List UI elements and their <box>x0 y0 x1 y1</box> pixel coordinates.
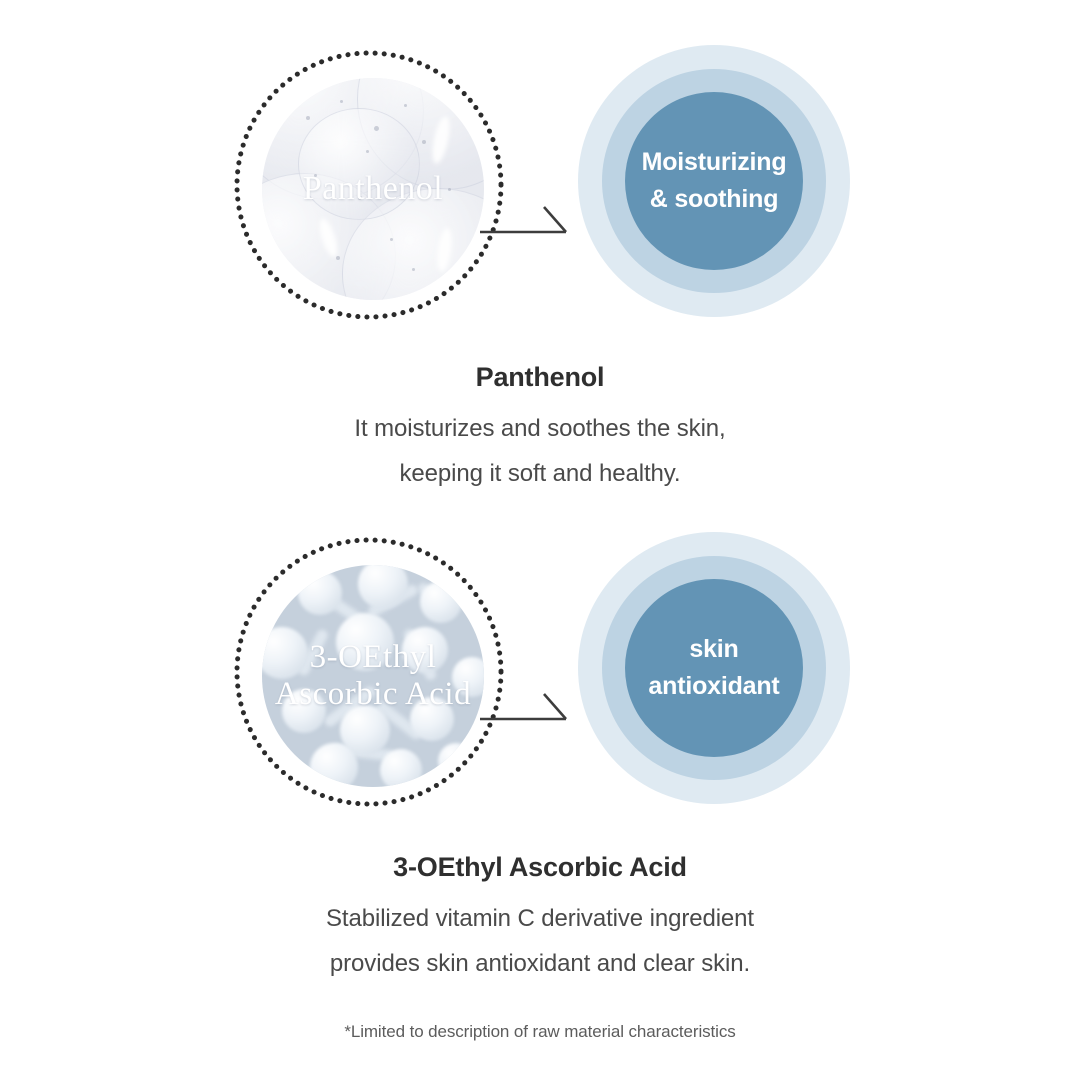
footnote-disclaimer: *Limited to description of raw material … <box>0 1022 1080 1042</box>
ingredient-card-panthenol: Panthenol Moisturizing & soothing Panthe… <box>0 40 1080 496</box>
ingredient-photo-label: 3-OEthyl Ascorbic Acid <box>275 639 471 713</box>
ingredient-photo-group: Panthenol <box>234 50 504 320</box>
benefit-label: skin antioxidant <box>648 631 779 705</box>
card-title: 3-OEthyl Ascorbic Acid <box>0 817 1080 883</box>
ingredient-card-ascorbic-acid: 3-OEthyl Ascorbic Acid skin antioxidant … <box>0 527 1080 986</box>
arrow-right-icon <box>478 195 573 245</box>
ingredient-photo-ascorbic-acid: 3-OEthyl Ascorbic Acid <box>262 565 484 787</box>
ingredient-photo-group: 3-OEthyl Ascorbic Acid <box>234 537 504 807</box>
card-copy: Panthenol It moisturizes and soothes the… <box>0 330 1080 496</box>
card-description: It moisturizes and soothes the skin, kee… <box>0 393 1080 496</box>
visual-row: 3-OEthyl Ascorbic Acid skin antioxidant <box>0 527 1080 817</box>
benefit-target-group: Moisturizing & soothing <box>578 45 850 317</box>
ingredient-photo-panthenol: Panthenol <box>262 78 484 300</box>
target-ring-inner: skin antioxidant <box>625 579 803 757</box>
card-description: Stabilized vitamin C derivative ingredie… <box>0 883 1080 986</box>
benefit-target-group: skin antioxidant <box>578 532 850 804</box>
target-ring-inner: Moisturizing & soothing <box>625 92 803 270</box>
ingredient-photo-label: Panthenol <box>303 170 443 208</box>
benefit-label: Moisturizing & soothing <box>642 144 787 218</box>
card-copy: 3-OEthyl Ascorbic Acid Stabilized vitami… <box>0 817 1080 986</box>
card-title: Panthenol <box>0 330 1080 393</box>
arrow-right-icon <box>478 682 573 732</box>
ingredient-infographic: Panthenol Moisturizing & soothing Panthe… <box>0 0 1080 1080</box>
visual-row: Panthenol Moisturizing & soothing <box>0 40 1080 330</box>
